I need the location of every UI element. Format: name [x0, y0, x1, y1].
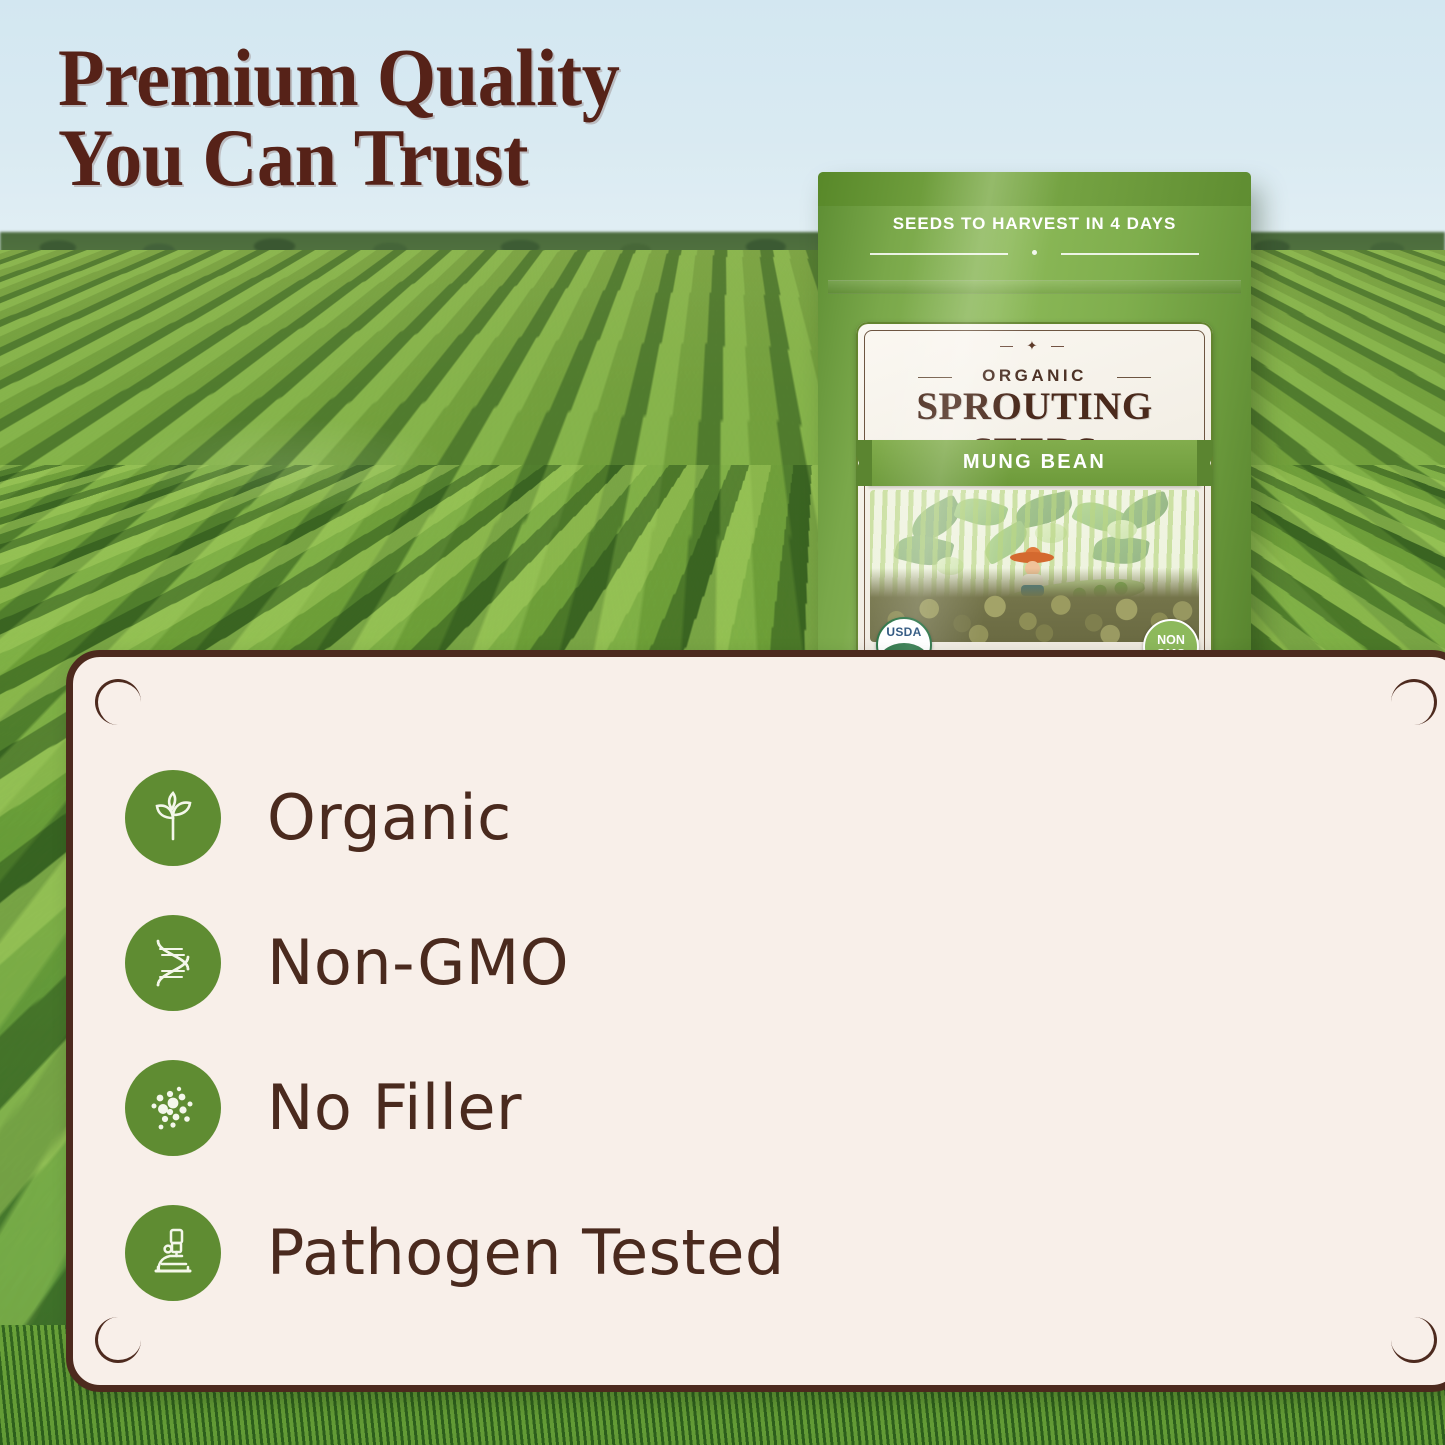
microscope-icon — [146, 1226, 200, 1280]
benefit-item-pathogen-tested: Pathogen Tested — [125, 1180, 845, 1325]
label-flourish-ornament: — ✦ — — [856, 338, 1213, 354]
benefit-item-no-filler: No Filler — [125, 1035, 845, 1180]
finger — [1276, 1387, 1445, 1392]
label-variety-text: MUNG BEAN — [868, 451, 1201, 474]
label-organic-text: ORGANIC — [856, 366, 1213, 386]
benefit-icon-badge — [125, 1060, 221, 1156]
benefit-label: Organic — [267, 781, 512, 854]
card-corner-ornament-bottom-right — [1391, 1317, 1437, 1363]
benefit-label: Non-GMO — [267, 926, 569, 999]
headline-line-2: You Can Trust — [58, 118, 821, 198]
product-marketing-image: Premium Quality You Can Trust SEEDS TO H… — [0, 0, 1445, 1445]
benefit-label: Pathogen Tested — [267, 1216, 785, 1289]
benefit-item-organic: Organic — [125, 745, 845, 890]
leaf-sprout-icon — [146, 791, 200, 845]
dna-helix-icon — [146, 936, 200, 990]
package-divider-rule — [870, 248, 1199, 258]
non-gmo-line-1: NON — [1157, 633, 1185, 647]
benefits-card: Organic — [66, 650, 1445, 1392]
label-variety-ribbon: MUNG BEAN — [868, 440, 1201, 486]
package-top-seal — [818, 172, 1251, 206]
benefit-icon-badge — [125, 1205, 221, 1301]
label-illustration — [870, 490, 1199, 642]
headline-line-1: Premium Quality — [58, 32, 619, 123]
benefit-icon-badge — [125, 770, 221, 866]
card-corner-ornament-top-right — [1391, 679, 1437, 725]
particles-dots-icon — [146, 1081, 200, 1135]
package-top-banner: SEEDS TO HARVEST IN 4 DAYS — [818, 214, 1251, 234]
usda-seal-top-text: USDA — [878, 625, 930, 639]
benefit-icon-badge — [125, 915, 221, 1011]
page-title: Premium Quality You Can Trust — [58, 38, 821, 199]
package-zipper — [828, 280, 1241, 294]
benefit-item-non-gmo: Non-GMO — [125, 890, 845, 1035]
benefits-list: Organic — [125, 745, 845, 1325]
card-corner-ornament-top-left — [95, 679, 141, 725]
benefit-label: No Filler — [267, 1071, 522, 1144]
